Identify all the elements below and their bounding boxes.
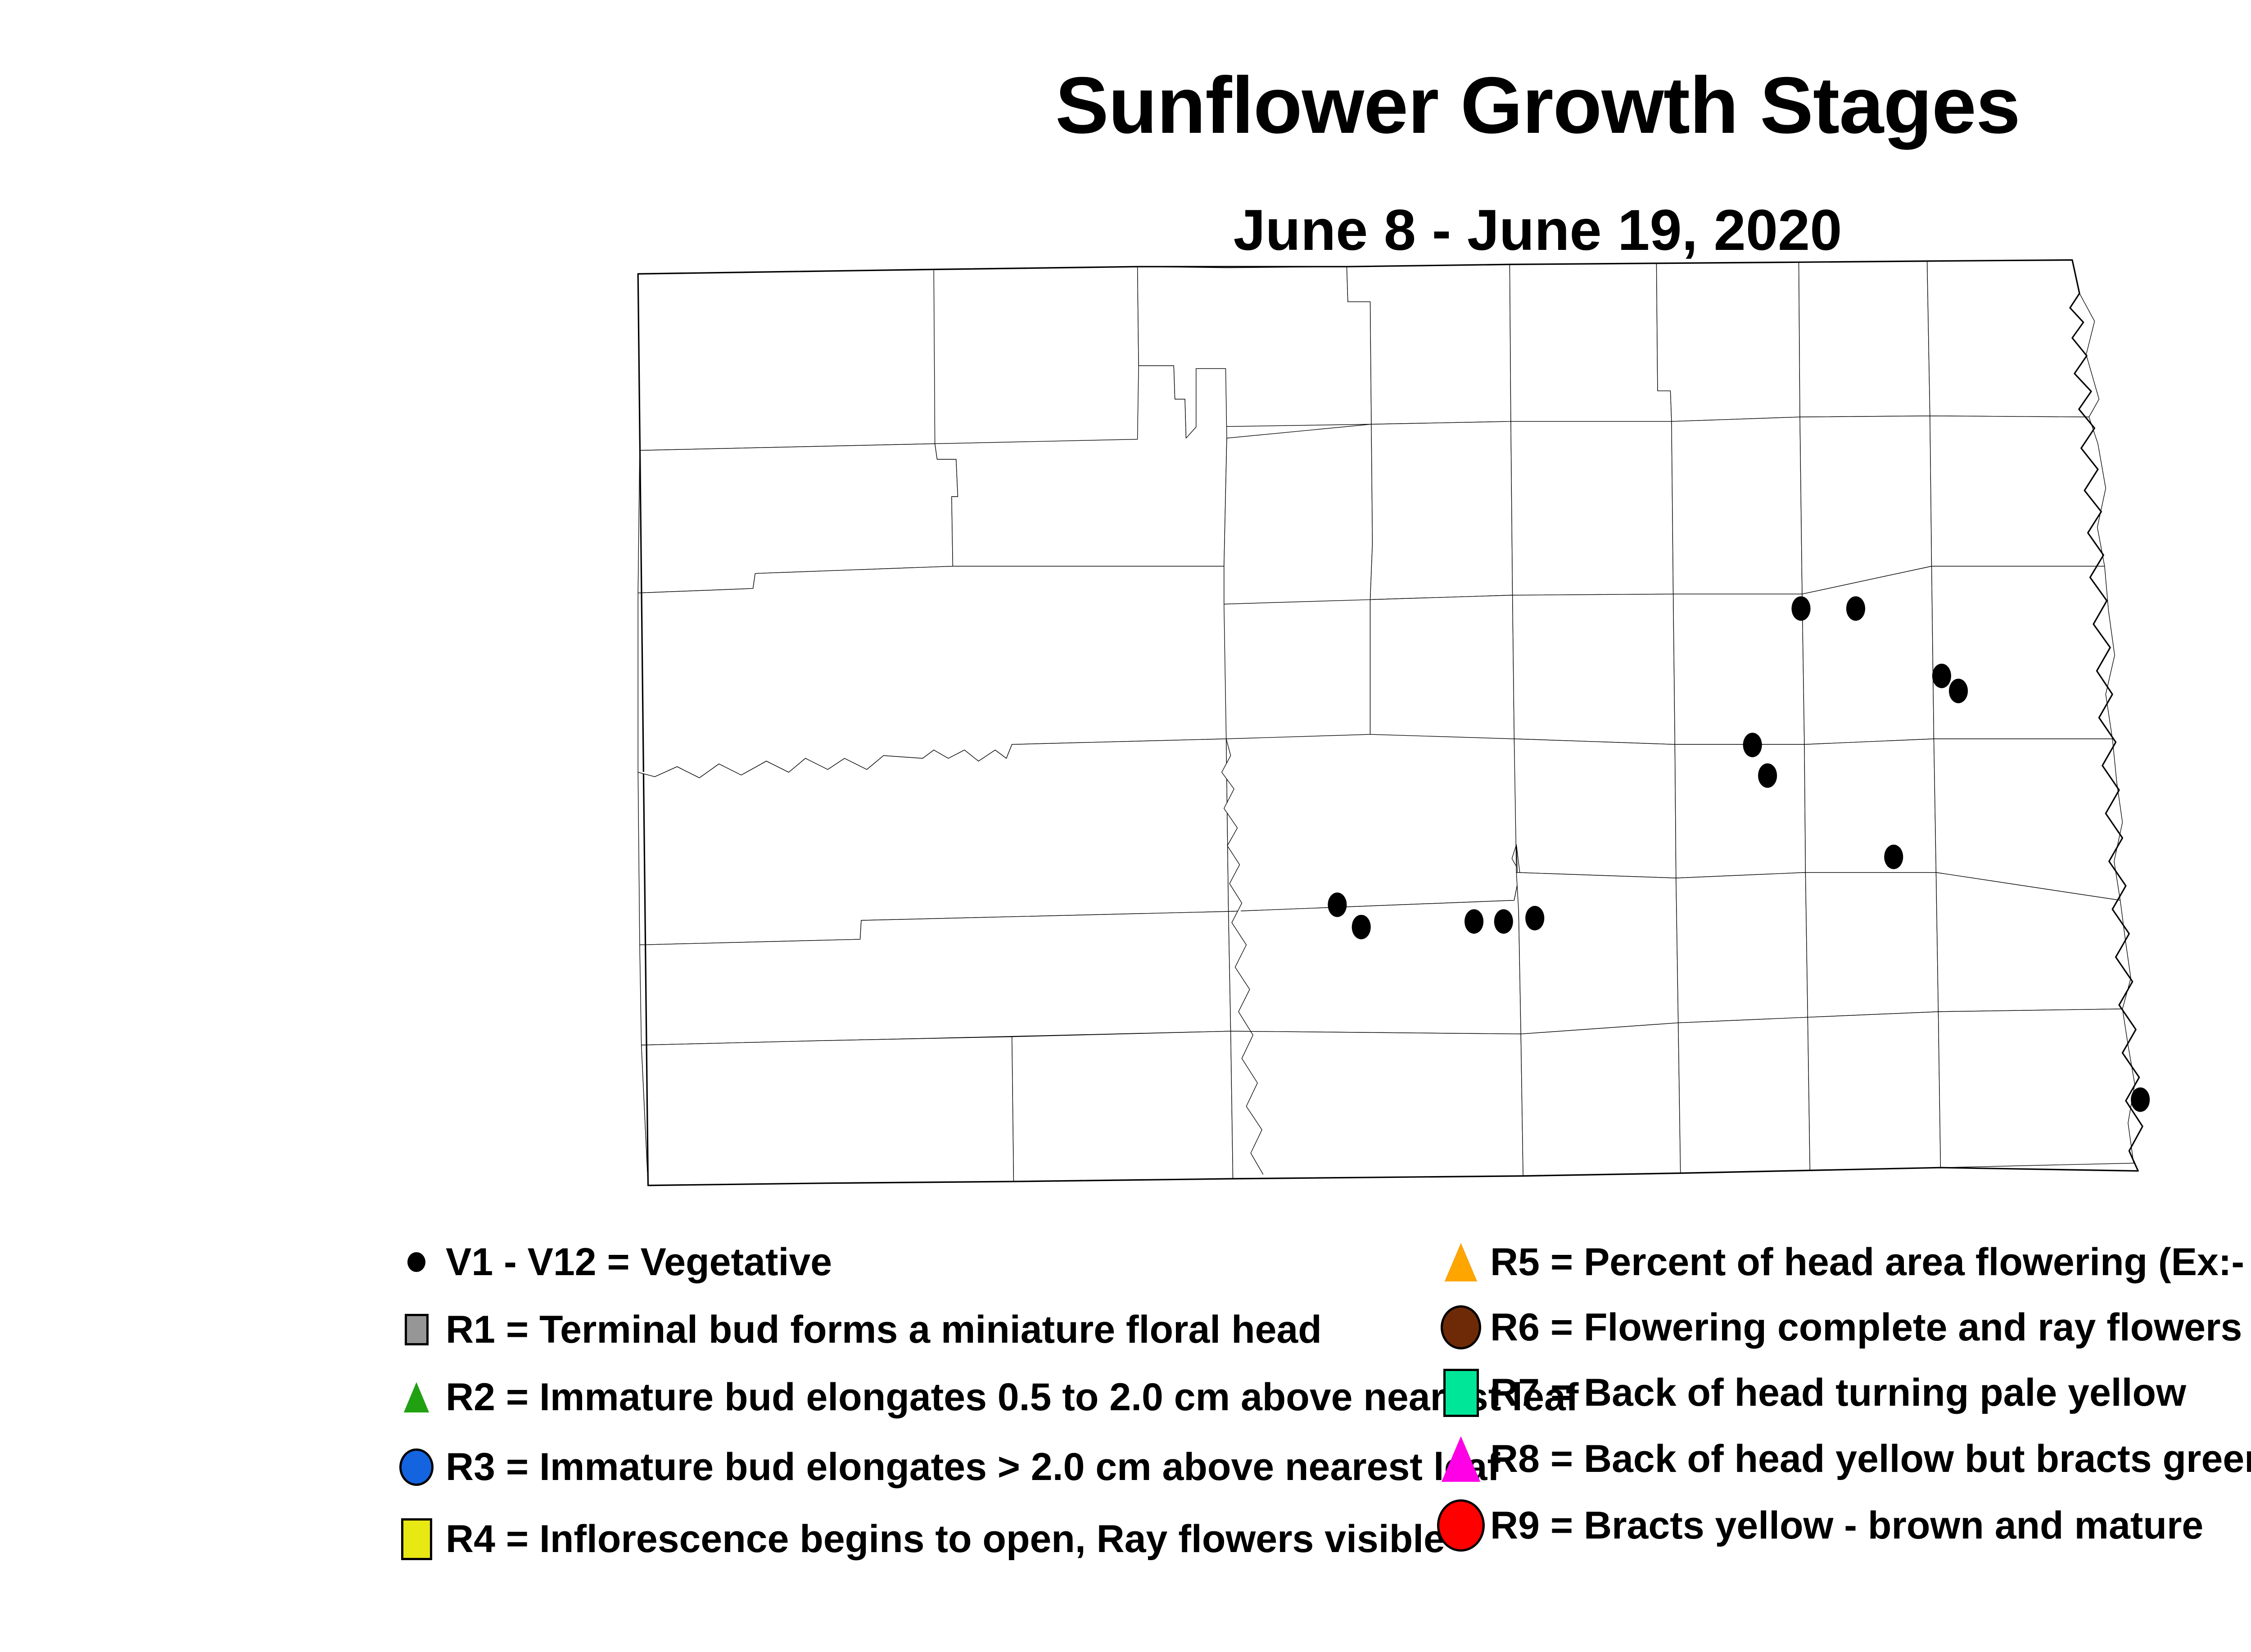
map-data-point — [1328, 892, 1347, 917]
map-data-point — [1525, 906, 1544, 930]
r8-triangle-icon-shape — [1442, 1436, 1480, 1482]
r2-triangle-icon-shape — [404, 1382, 429, 1412]
r3-circle-icon — [387, 1452, 446, 1482]
north-dakota-county-map — [621, 254, 2228, 1195]
map-data-point — [1352, 915, 1371, 939]
page-subtitle: June 8 - June 19, 2020 — [0, 202, 2251, 259]
r9-circle-icon-shape — [1437, 1499, 1485, 1552]
legend-item: R2 = Immature bud elongates 0.5 to 2.0 c… — [387, 1378, 1578, 1417]
map-data-point — [1846, 596, 1865, 620]
r7-square-icon — [1432, 1374, 1490, 1412]
r3-circle-icon-shape — [399, 1448, 434, 1486]
r7-square-icon-shape — [1443, 1369, 1479, 1417]
map-svg — [621, 254, 2228, 1195]
map-data-point — [1791, 596, 1810, 620]
page-title: Sunflower Growth Stages — [0, 65, 2251, 145]
map-data-point — [1743, 733, 1762, 757]
r4-square-icon — [387, 1523, 446, 1555]
map-data-point — [1949, 679, 1968, 703]
legend-item-label: R5 = Percent of head area flowering (Ex:… — [1490, 1243, 2251, 1281]
r1-square-icon — [387, 1318, 446, 1341]
r5-triangle-icon-shape — [1445, 1243, 1477, 1281]
legend-item-label: R7 = Back of head turning pale yellow — [1490, 1373, 2186, 1412]
map-data-point — [2131, 1087, 2150, 1112]
legend-item: R4 = Inflorescence begins to open, Ray f… — [387, 1520, 1445, 1558]
vegetative-circle-icon — [387, 1253, 446, 1271]
r6-circle-icon-shape — [1441, 1305, 1481, 1349]
map-data-point — [1494, 909, 1513, 933]
legend-item: R1 = Terminal bud forms a miniature flor… — [387, 1310, 1322, 1349]
county-polygons — [638, 260, 2135, 1185]
r2-triangle-icon — [387, 1384, 446, 1411]
map-data-point — [1932, 664, 1951, 688]
r1-square-icon-shape — [405, 1314, 429, 1345]
map-data-point — [1758, 763, 1777, 788]
legend-item: R3 = Immature bud elongates > 2.0 cm abo… — [387, 1448, 1500, 1486]
r4-square-icon-shape — [401, 1518, 432, 1560]
legend-item-label: R9 = Bracts yellow - brown and mature — [1490, 1506, 2203, 1545]
legend-item-label: R3 = Immature bud elongates > 2.0 cm abo… — [446, 1448, 1500, 1486]
legend-item: R7 = Back of head turning pale yellow — [1432, 1373, 2186, 1412]
legend-item-label: V1 - V12 = Vegetative — [446, 1243, 832, 1281]
map-data-point — [1884, 845, 1903, 869]
r8-triangle-icon — [1432, 1439, 1490, 1479]
legend-item: R9 = Bracts yellow - brown and mature — [1432, 1504, 2203, 1547]
r6-circle-icon — [1432, 1309, 1490, 1345]
legend-item-label: R2 = Immature bud elongates 0.5 to 2.0 c… — [446, 1378, 1578, 1417]
legend-item: R8 = Back of head yellow but bracts gree… — [1432, 1439, 2251, 1479]
legend-item-label: R6 = Flowering complete and ray flowers … — [1490, 1308, 2251, 1347]
legend-item: R5 = Percent of head area flowering (Ex:… — [1432, 1243, 2251, 1281]
r9-circle-icon — [1432, 1504, 1490, 1547]
legend-item-label: R4 = Inflorescence begins to open, Ray f… — [446, 1520, 1445, 1558]
legend-item: R6 = Flowering complete and ray flowers … — [1432, 1308, 2251, 1347]
vegetative-circle-icon-shape — [407, 1252, 425, 1272]
legend-item-label: R1 = Terminal bud forms a miniature flor… — [446, 1310, 1322, 1349]
legend: V1 - V12 = VegetativeR1 = Terminal bud f… — [0, 1243, 2251, 1585]
legend-item: V1 - V12 = Vegetative — [387, 1243, 832, 1281]
r5-triangle-icon — [1432, 1245, 1490, 1279]
map-data-point — [1465, 909, 1483, 933]
legend-item-label: R8 = Back of head yellow but bracts gree… — [1490, 1439, 2251, 1478]
